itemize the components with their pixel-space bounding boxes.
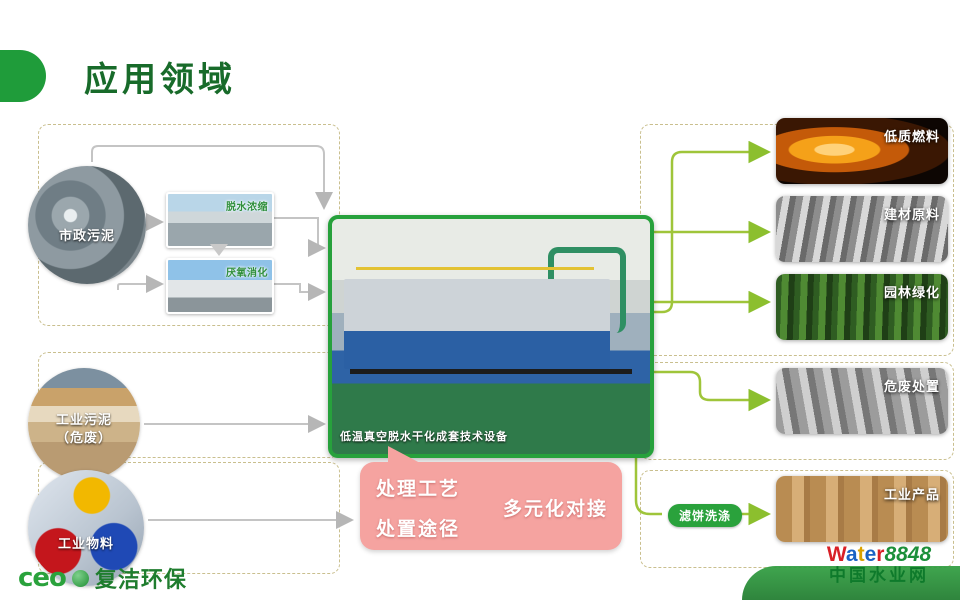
slide-canvas: 应用领域: [0, 0, 960, 600]
output-panel-building-material[interactable]: 建材原料: [776, 196, 948, 262]
pretreatment-thumb-dewatering-label: 脱水浓缩: [226, 198, 268, 213]
page-title: 应用领域: [84, 52, 236, 101]
callout-line-1: 处理工艺: [376, 474, 460, 501]
company-logo: ceo 复洁环保: [18, 562, 187, 594]
callout-tail-icon: [388, 446, 422, 464]
header-accent-shape: [0, 50, 46, 102]
central-equipment-photo[interactable]: 低温真空脱水干化成套技术设备: [328, 215, 654, 458]
input-circle-material-label: 工业物料: [28, 536, 144, 552]
pretreatment-thumb-anaerobic[interactable]: 厌氧消化: [166, 258, 274, 314]
filter-cake-washing-badge[interactable]: 滤饼洗涤: [668, 504, 742, 527]
output-panel-hazardous-waste[interactable]: 危废处置: [776, 368, 948, 434]
output-panel-landscaping[interactable]: 园林绿化: [776, 274, 948, 340]
input-circle-industrial-label: 工业污泥: [28, 412, 140, 428]
output-panel-hazardous-waste-label: 危废处置: [884, 376, 940, 395]
output-panel-building-material-label: 建材原料: [884, 204, 940, 223]
logo-company-name: 复洁环保: [95, 562, 187, 594]
input-circle-industrial-sublabel: （危废）: [28, 430, 140, 446]
equipment-floor-pipe-decoration: [350, 369, 632, 374]
output-panel-low-grade-fuel-label: 低质燃料: [884, 126, 940, 145]
watermark-chinese: 中国水业网: [806, 566, 952, 586]
callout-line-2: 处置途径: [376, 514, 460, 541]
equipment-body-decoration: [344, 279, 610, 369]
callout-right-text: 多元化对接: [503, 494, 608, 521]
input-circle-municipal-label: 市政污泥: [28, 228, 146, 244]
logo-mark-text: ceo: [18, 563, 66, 593]
pretreatment-thumb-dewatering[interactable]: 脱水浓缩: [166, 192, 274, 248]
pretreatment-thumb-anaerobic-label: 厌氧消化: [226, 264, 268, 279]
central-equipment-caption: 低温真空脱水干化成套技术设备: [340, 428, 508, 444]
output-panel-industrial-product-label: 工业产品: [884, 484, 940, 503]
globe-icon: [72, 570, 89, 587]
input-circle-industrial-sludge[interactable]: 工业污泥 （危废）: [28, 368, 140, 480]
output-panel-industrial-product[interactable]: 工业产品: [776, 476, 948, 542]
output-panel-low-grade-fuel[interactable]: 低质燃料: [776, 118, 948, 184]
output-panel-landscaping-label: 园林绿化: [884, 282, 940, 301]
input-circle-municipal-sludge[interactable]: 市政污泥: [28, 166, 146, 284]
site-watermark: Water8848 中国水业网: [806, 544, 952, 594]
watermark-site-name: Water8848: [806, 544, 952, 566]
watermark-number: 8848: [884, 543, 931, 566]
process-callout: 处理工艺 处置途径 多元化对接: [360, 462, 622, 550]
down-arrow-icon: [210, 244, 228, 256]
